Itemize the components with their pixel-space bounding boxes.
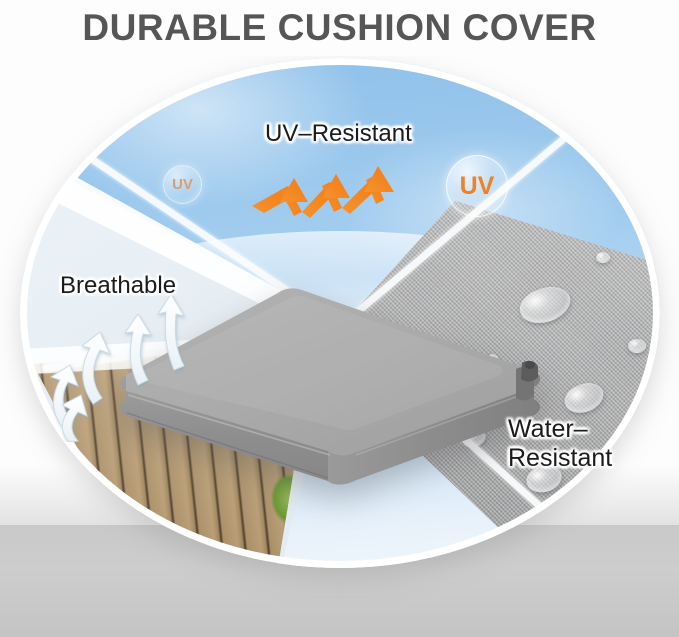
uv-rays-icon	[250, 150, 415, 230]
feature-label-breathable: Breathable	[60, 272, 176, 300]
airflow-arrows	[38, 292, 218, 442]
feature-label-water-resistant: Water– Resistant	[508, 415, 612, 472]
uv-badge-small-label: UV	[172, 176, 193, 193]
uv-badge-large-label: UV	[460, 172, 495, 201]
droplet-icon	[628, 339, 646, 353]
header-bar: DURABLE CUSHION COVER	[0, 0, 679, 56]
droplet-icon	[596, 252, 610, 263]
uv-badge-large: UV	[446, 155, 508, 217]
feature-label-uv-resistant: UV–Resistant	[265, 120, 412, 148]
infographic-canvas: DURABLE CUSHION COVER	[0, 0, 679, 637]
uv-badge-small: UV	[163, 165, 202, 204]
page-title: DURABLE CUSHION COVER	[82, 7, 596, 49]
